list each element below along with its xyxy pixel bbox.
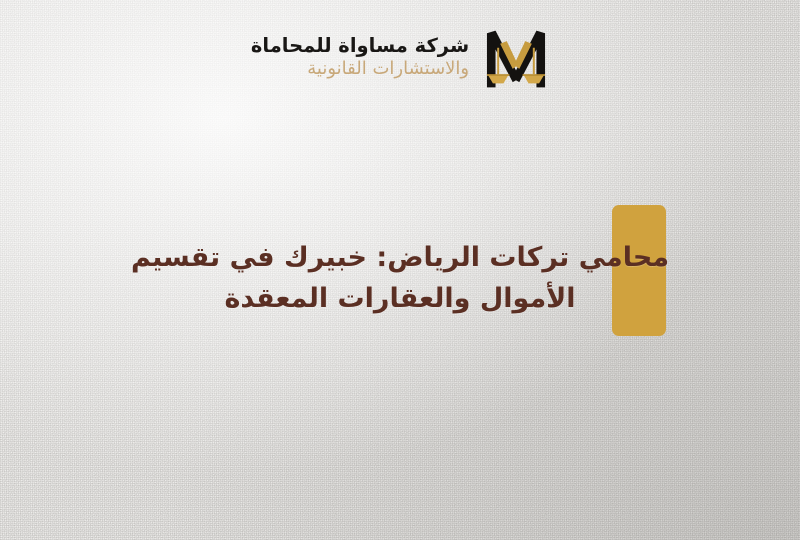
page-title: محامي تركات الرياض: خبيرك في تقسيم الأمو…: [0, 238, 800, 319]
page-title-line-1: محامي تركات الرياض: خبيرك في تقسيم: [60, 238, 740, 279]
brand-name-block: شركة مساواة للمحاماة والاستشارات القانون…: [251, 36, 469, 79]
brand-name-primary: شركة مساواة للمحاماة: [251, 36, 469, 56]
law-firm-m-scales-logo-icon: [483, 24, 549, 90]
brand-lockup: شركة مساواة للمحاماة والاستشارات القانون…: [0, 24, 800, 90]
poster-canvas: شركة مساواة للمحاماة والاستشارات القانون…: [0, 0, 800, 540]
brand-name-secondary: والاستشارات القانونية: [307, 60, 469, 78]
page-title-line-2: الأموال والعقارات المعقدة: [60, 279, 740, 320]
